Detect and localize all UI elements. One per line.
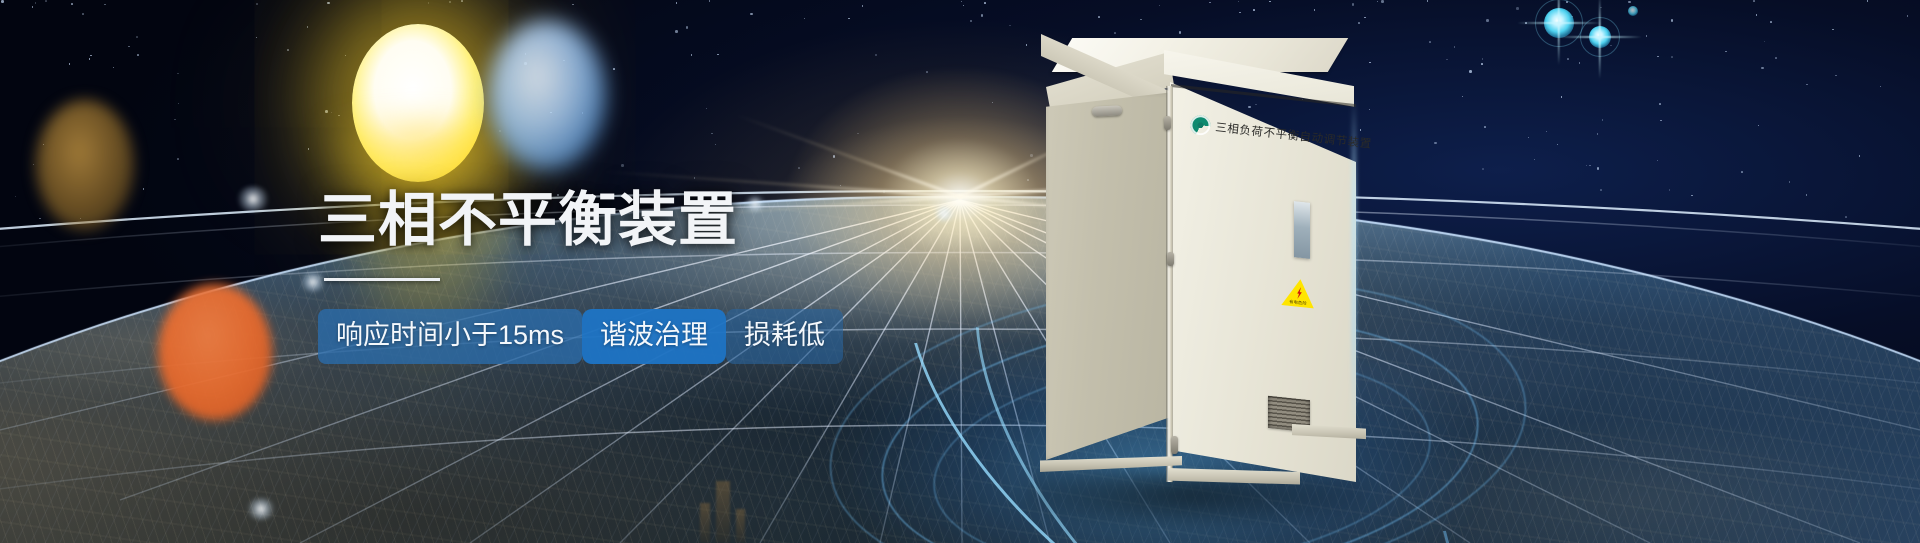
electrical-hazard-warning-icon: 有电危险 (1281, 276, 1318, 309)
bokeh-orb-brown (36, 100, 134, 230)
cabinet-door-seam (1166, 86, 1173, 482)
feature-badge-list: 响应时间小于15ms 谐波治理 损耗低 (318, 309, 938, 364)
horizon-glint (246, 498, 276, 520)
cabinet-hinge-icon (1164, 116, 1171, 130)
sparkle-orb-icon (1544, 8, 1574, 38)
banner-copy: 三相不平衡装置 响应时间小于15ms 谐波治理 损耗低 (318, 190, 938, 364)
feature-badge-low-loss[interactable]: 损耗低 (726, 309, 843, 364)
product-hero-banner: 三相负荷不平衡自动调节装置 有电危险 三相不平衡装置 响应时间小于15ms 谐波… (0, 0, 1920, 543)
cabinet-lock-plate-icon[interactable] (1294, 201, 1310, 259)
sparkle-core (1628, 6, 1638, 16)
bokeh-orb-yellow (352, 24, 484, 182)
product-cabinet: 三相负荷不平衡自动调节装置 有电危险 (1040, 20, 1400, 520)
bokeh-orb-orange (158, 284, 272, 420)
cabinet-hinge-icon (1171, 436, 1178, 454)
page-title: 三相不平衡装置 (318, 190, 938, 252)
bokeh-orb-blue (488, 20, 606, 170)
sparkle-flare-v (1599, 0, 1601, 79)
cabinet-door-handle-icon[interactable] (1092, 105, 1122, 117)
title-divider (324, 278, 440, 281)
company-logo-icon (1189, 114, 1211, 136)
cabinet-side-panel (1046, 92, 1174, 460)
feature-badge-response-time[interactable]: 响应时间小于15ms (318, 309, 582, 364)
sparkle-flare-v (1558, 0, 1560, 65)
horizon-glint (236, 186, 270, 212)
cabinet-hinge-icon (1167, 252, 1174, 266)
feature-badge-harmonic[interactable]: 谐波治理 (582, 309, 726, 364)
sparkle-orb-icon (1628, 6, 1638, 16)
sparkle-orb-icon (1589, 26, 1611, 48)
